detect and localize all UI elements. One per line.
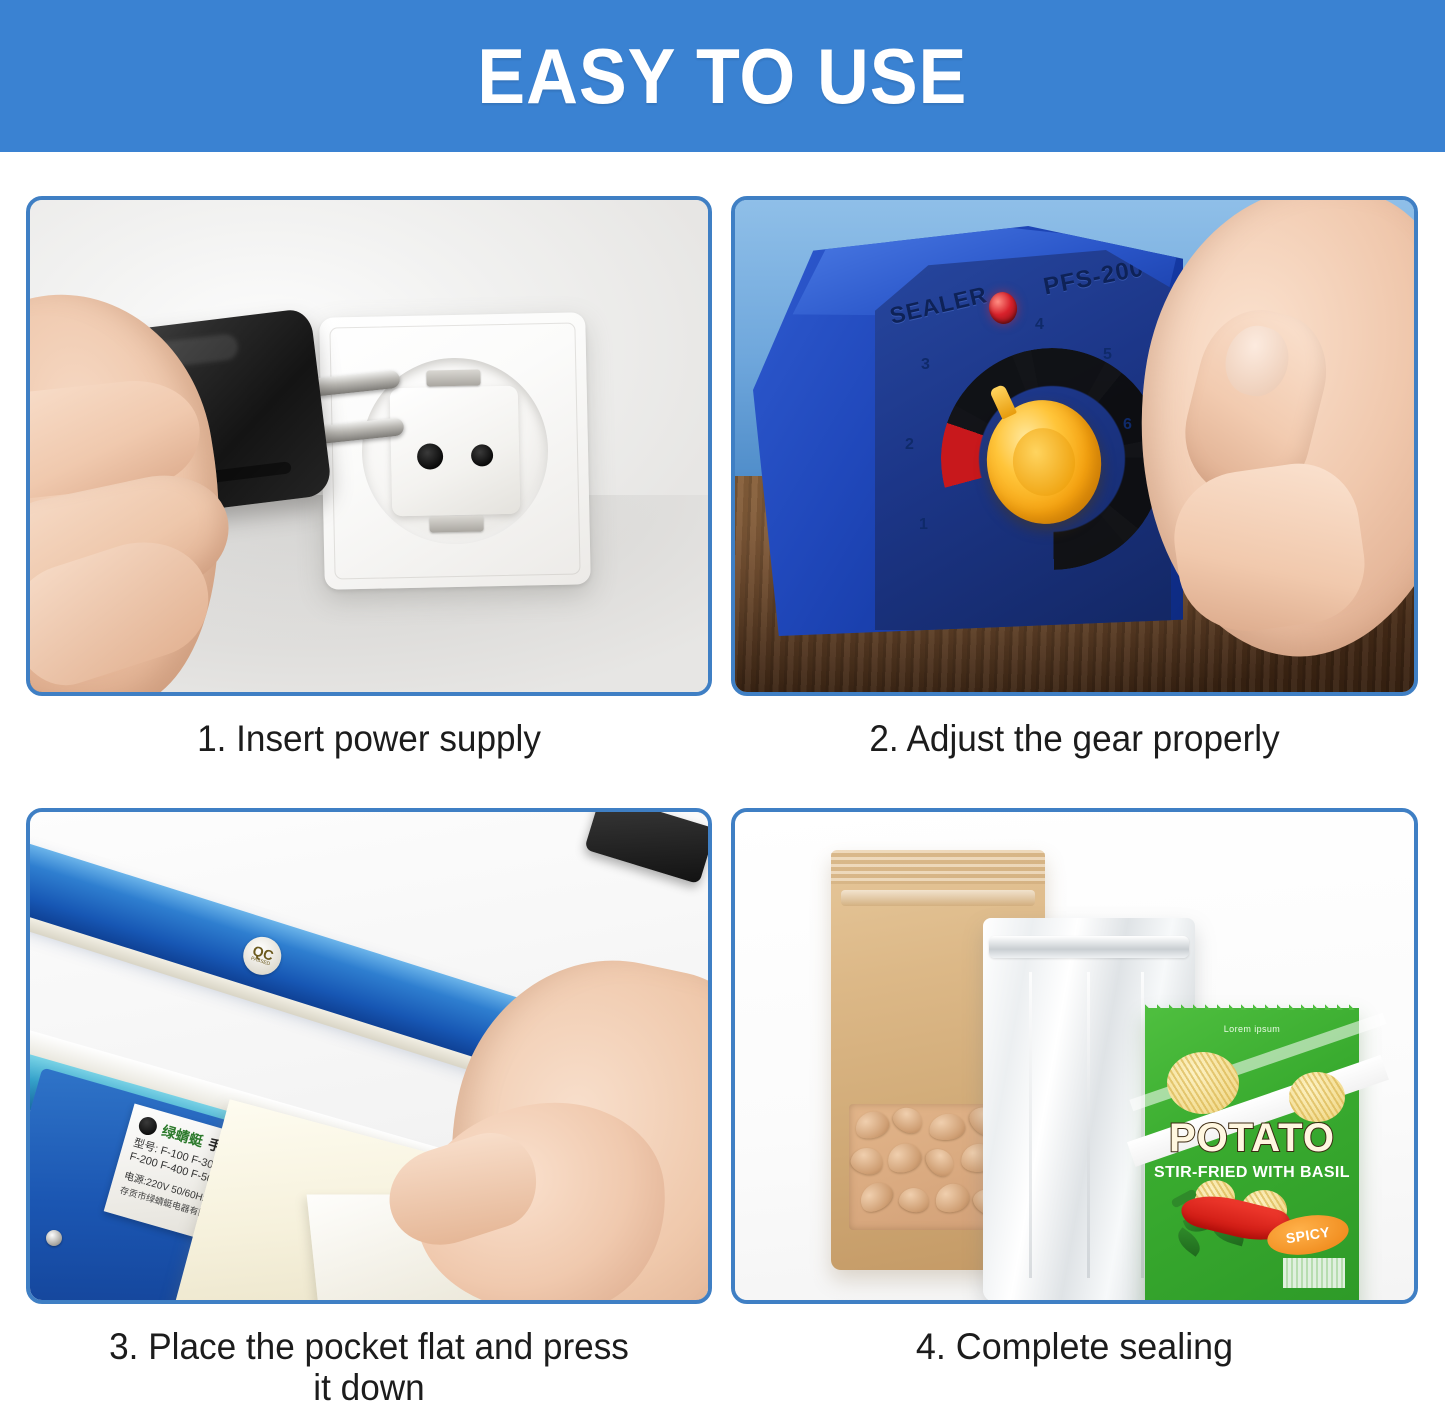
socket-hole-left bbox=[417, 443, 444, 470]
potato-chip-graphic bbox=[1167, 1052, 1239, 1114]
step-card-3: 绿蜻蜓 手压封口机 型号: F-100 F-300 F-200 F-400 F-… bbox=[26, 808, 712, 1412]
step-3-caption: 3. Place the pocket flat and press it do… bbox=[43, 1326, 695, 1409]
chip-bag-subtitle: STIR-FRIED WITH BASIL bbox=[1145, 1164, 1359, 1182]
sealer-brand-text: SEALER bbox=[887, 281, 990, 330]
nut bbox=[889, 1104, 926, 1137]
nut bbox=[921, 1143, 959, 1181]
steps-grid: 1. Insert power supply SEALER PFS-200 3 … bbox=[0, 152, 1445, 1412]
dial-number-6: 6 bbox=[1123, 416, 1132, 434]
pouch-zipper bbox=[989, 936, 1189, 958]
ground-clip-bottom bbox=[429, 515, 483, 532]
control-faceplate: SEALER PFS-200 3 2 1 4 5 6 bbox=[875, 250, 1171, 630]
dial-number-5: 5 bbox=[1103, 346, 1112, 364]
brand-logo-icon bbox=[137, 1115, 159, 1137]
potato-chip-graphic bbox=[1289, 1072, 1345, 1122]
nut bbox=[855, 1177, 898, 1218]
socket-inner-face bbox=[390, 386, 521, 517]
dial-number-3: 3 bbox=[921, 356, 930, 374]
dial-number-4: 4 bbox=[1035, 316, 1044, 334]
step-4-photo: Lorem ipsum POTATO STIR-FRIED WITH BASIL… bbox=[731, 808, 1418, 1304]
foil-crease bbox=[1141, 972, 1144, 1278]
step-card-1: 1. Insert power supply bbox=[26, 196, 712, 796]
step-1-photo bbox=[26, 196, 712, 696]
barcode bbox=[1283, 1258, 1345, 1288]
easy-to-use-infographic: EASY TO USE bbox=[0, 0, 1445, 1412]
potato-chip-bag: Lorem ipsum POTATO STIR-FRIED WITH BASIL… bbox=[1145, 1008, 1359, 1304]
foil-crease bbox=[1087, 972, 1090, 1278]
socket-hole-right bbox=[471, 444, 493, 466]
dial-number-2: 2 bbox=[905, 436, 914, 454]
step-2-photo: SEALER PFS-200 3 2 1 4 5 6 bbox=[731, 196, 1418, 696]
step-3-photo: 绿蜻蜓 手压封口机 型号: F-100 F-300 F-200 F-400 F-… bbox=[26, 808, 712, 1304]
pouch-zipper bbox=[841, 890, 1035, 906]
step-4-caption: 4. Complete sealing bbox=[741, 1326, 1407, 1367]
nut bbox=[897, 1186, 930, 1214]
qc-passed-sticker: QC PASSED bbox=[238, 932, 286, 980]
header-banner: EASY TO USE bbox=[0, 0, 1445, 152]
nut bbox=[849, 1145, 885, 1177]
ground-clip-top bbox=[426, 369, 480, 386]
nut bbox=[932, 1180, 972, 1216]
step-card-4: Lorem ipsum POTATO STIR-FRIED WITH BASIL… bbox=[731, 808, 1418, 1412]
screw bbox=[46, 1230, 62, 1246]
foil-crease bbox=[1029, 972, 1032, 1278]
step-1-caption: 1. Insert power supply bbox=[43, 718, 695, 759]
nut bbox=[883, 1139, 925, 1178]
nut bbox=[852, 1107, 892, 1142]
page-title: EASY TO USE bbox=[477, 31, 967, 122]
step-card-2: SEALER PFS-200 3 2 1 4 5 6 bbox=[731, 196, 1418, 796]
dial-number-1: 1 bbox=[919, 516, 928, 534]
chip-bag-title: POTATO bbox=[1145, 1116, 1359, 1161]
chip-bag-lorem-text: Lorem ipsum bbox=[1145, 1024, 1359, 1034]
power-led-indicator bbox=[986, 290, 1019, 326]
step-2-caption: 2. Adjust the gear properly bbox=[748, 718, 1401, 759]
impulse-sealer-body: SEALER PFS-200 3 2 1 4 5 6 bbox=[753, 226, 1183, 636]
basil-leaf bbox=[1173, 1227, 1205, 1256]
wall-socket bbox=[319, 312, 591, 590]
nut bbox=[927, 1112, 966, 1143]
